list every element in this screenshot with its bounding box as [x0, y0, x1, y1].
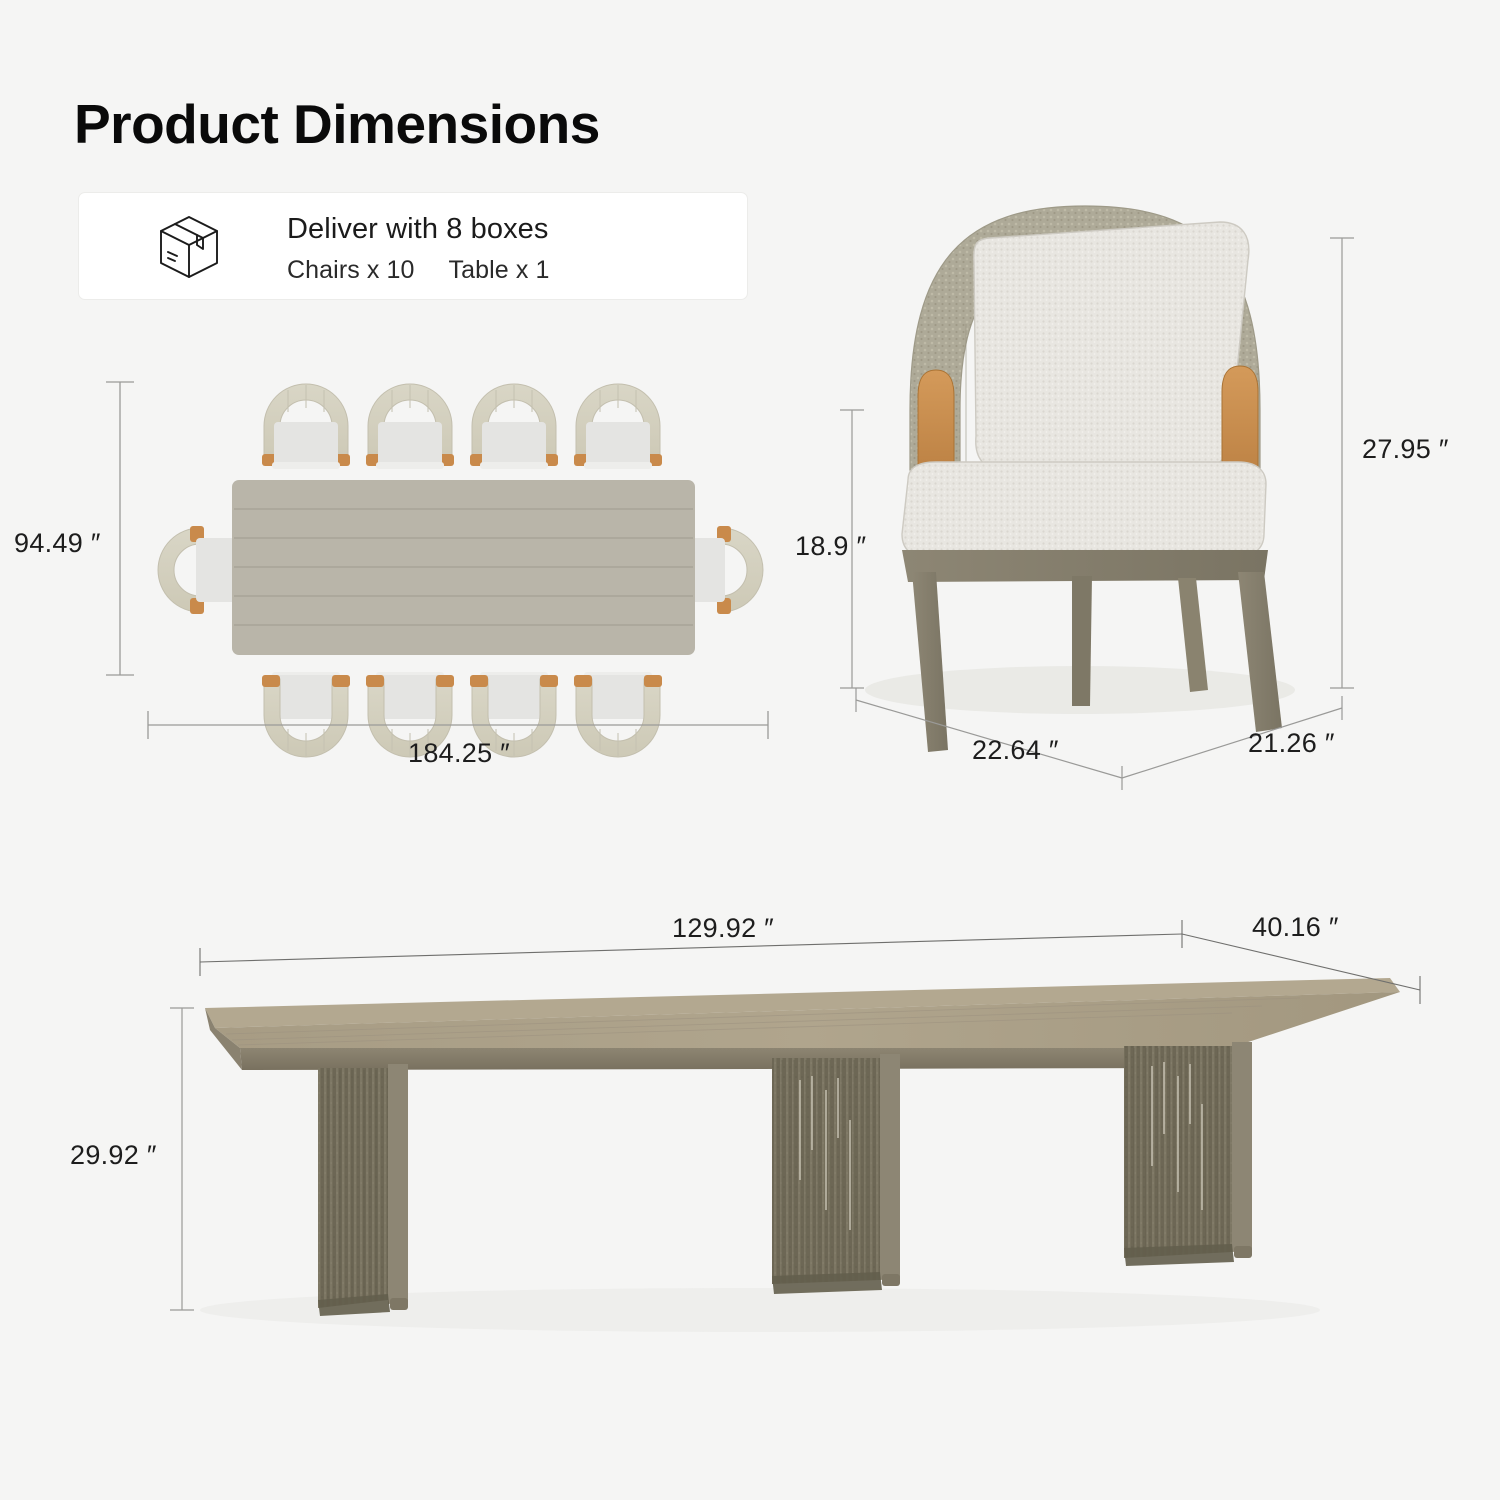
- table-leg-center-post: [880, 1054, 900, 1280]
- table-leg-right-post: [1232, 1042, 1252, 1252]
- chair-leg-back-center: [1072, 576, 1092, 706]
- chair-back-pillow: [974, 222, 1249, 470]
- table-leg-left-post: [388, 1064, 408, 1304]
- plan-view-figure: [0, 350, 820, 790]
- table-height-dim: [170, 1008, 194, 1310]
- chair-leg-front-right: [1238, 572, 1282, 732]
- plan-width-label: 184.25 ″: [408, 738, 510, 769]
- table-figure: [0, 880, 1500, 1380]
- delivery-text-block: Deliver with 8 boxes Chairs x 10Table x …: [287, 211, 550, 285]
- cardboard-box-icon: [151, 209, 227, 285]
- table-height-label: 29.92 ″: [70, 1140, 157, 1171]
- table-leg-right: [1124, 1042, 1252, 1266]
- chairs-count: Chairs x 10: [287, 256, 415, 284]
- chair-width-label: 22.64 ″: [972, 735, 1059, 766]
- plan-chairs-top: [262, 384, 662, 469]
- table-count: Table x 1: [449, 256, 550, 284]
- plan-chair-left: [158, 526, 245, 614]
- chair-seat-height-label: 18.9 ″: [795, 531, 866, 562]
- chair-seat-cushion: [902, 462, 1266, 558]
- delivery-info-card: Deliver with 8 boxes Chairs x 10Table x …: [78, 192, 748, 300]
- plan-depth-label: 94.49 ″: [14, 528, 101, 559]
- product-dimensions-infographic: Product Dimensions Deliver with 8 boxes …: [0, 0, 1500, 1500]
- table-depth-label: 40.16 ″: [1252, 912, 1339, 943]
- plan-table-top: [232, 480, 695, 655]
- delivery-headline: Deliver with 8 boxes: [287, 211, 550, 249]
- table-length-label: 129.92 ″: [672, 913, 774, 944]
- chair-height-label: 27.95 ″: [1362, 434, 1449, 465]
- delivery-contents: Chairs x 10Table x 1: [287, 256, 550, 285]
- table-leg-center: [772, 1054, 900, 1294]
- page-title: Product Dimensions: [74, 97, 600, 152]
- table-leg-left: [318, 1064, 408, 1316]
- chair-depth-label: 21.26 ″: [1248, 728, 1335, 759]
